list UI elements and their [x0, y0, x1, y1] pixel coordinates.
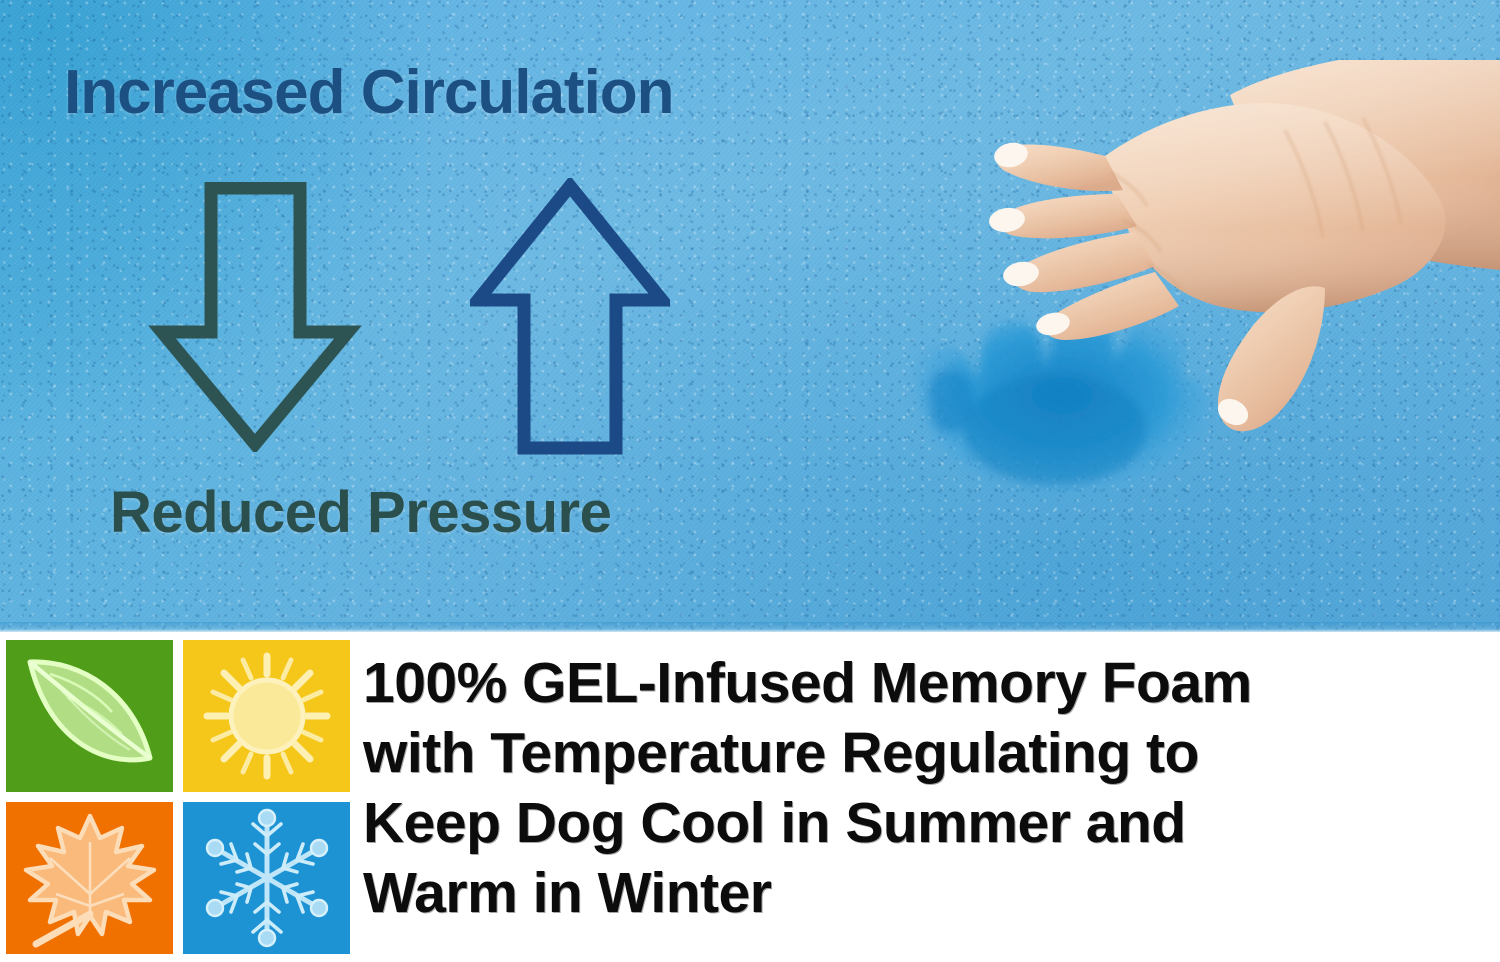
up-arrow-icon — [470, 178, 670, 456]
foam-bottom-edge — [0, 622, 1500, 632]
memory-foam-photo: Increased Circulation Reduced Pressure — [0, 0, 1500, 632]
spring-tile — [6, 640, 173, 792]
hand-photo-region — [855, 60, 1500, 580]
snowflake-icon — [183, 802, 350, 954]
winter-tile — [183, 802, 350, 954]
down-arrow-icon — [148, 182, 363, 452]
headline-line-4: Warm in Winter — [363, 858, 1493, 928]
reduced-pressure-label: Reduced Pressure — [110, 479, 611, 546]
increased-circulation-label: Increased Circulation — [64, 57, 674, 128]
headline-line-3: Keep Dog Cool in Summer and — [363, 788, 1493, 858]
product-headline: 100% GEL-Infused Memory Foam with Temper… — [363, 648, 1493, 928]
product-feature-banner: Increased Circulation Reduced Pressure — [0, 0, 1500, 962]
autumn-tile — [6, 802, 173, 954]
headline-line-1: 100% GEL-Infused Memory Foam — [363, 648, 1493, 718]
hand-illustration — [855, 60, 1500, 580]
leaf-icon — [6, 640, 173, 792]
sun-icon — [183, 640, 350, 792]
four-season-icon-grid — [6, 640, 350, 954]
summer-tile — [183, 640, 350, 792]
maple-leaf-icon — [6, 802, 173, 954]
headline-line-2: with Temperature Regulating to — [363, 718, 1493, 788]
